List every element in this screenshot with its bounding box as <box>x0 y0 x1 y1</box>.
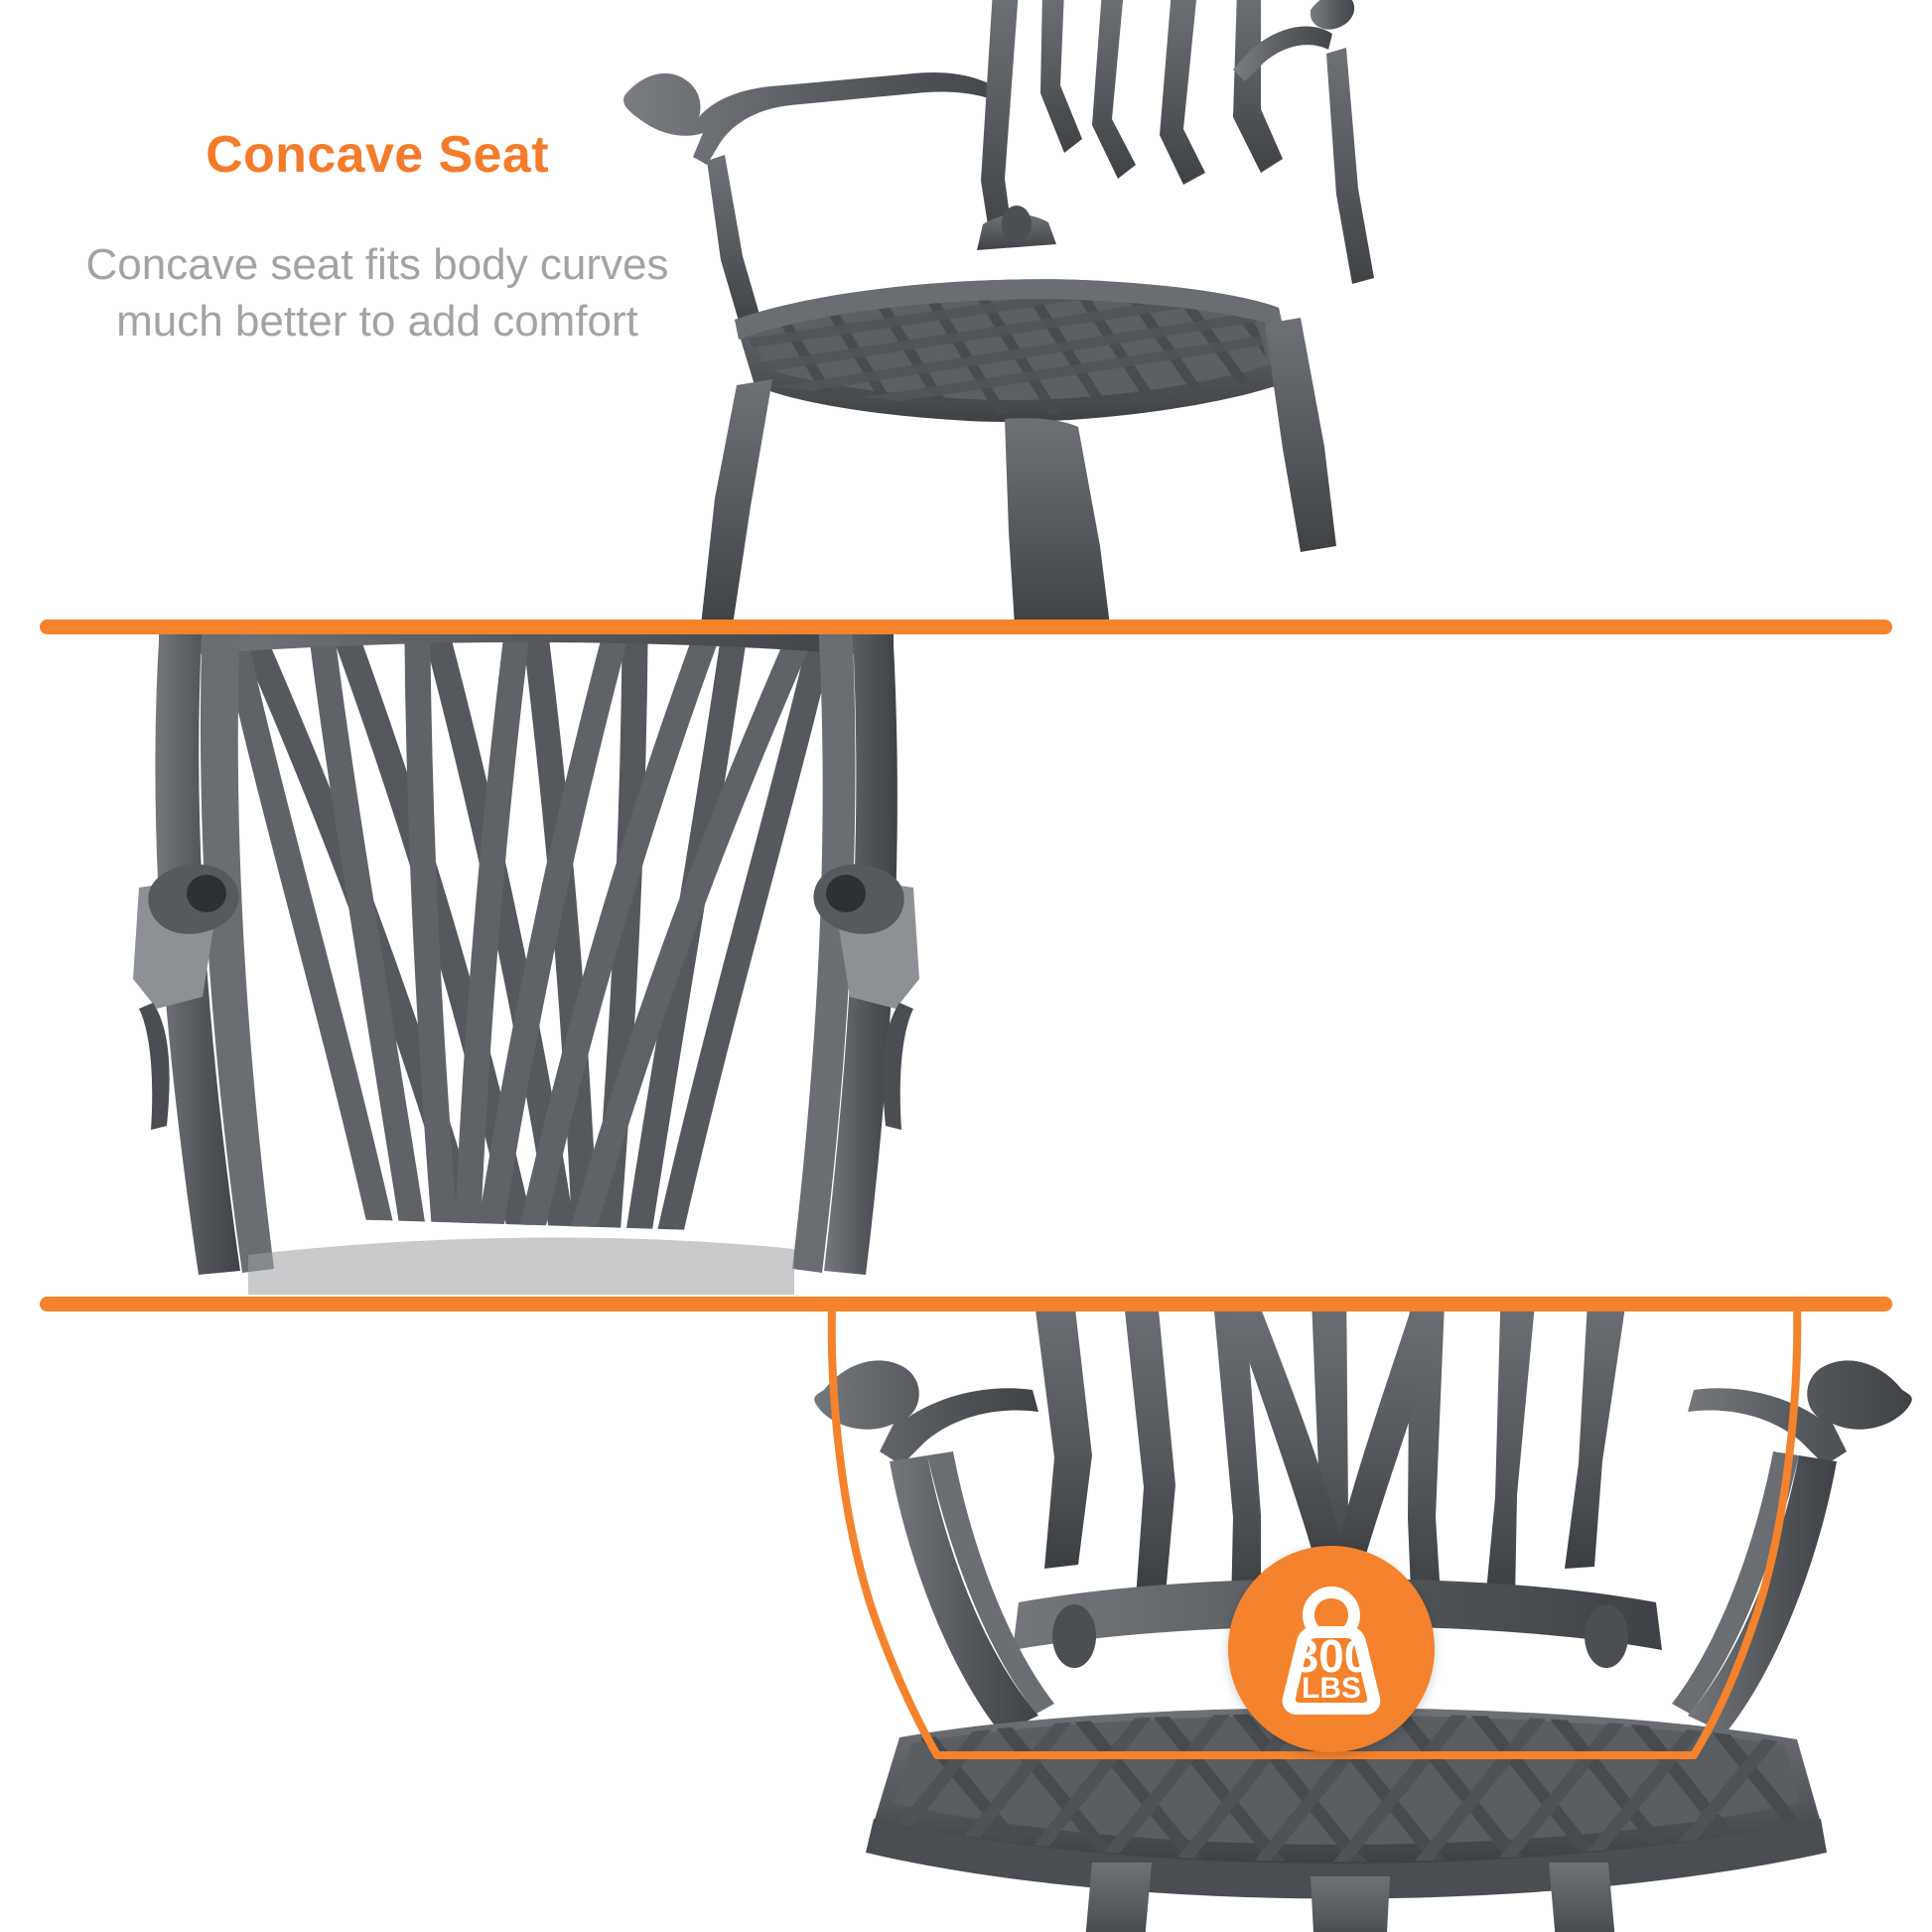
section-divider-2 <box>40 1297 1892 1311</box>
chair-seat-image <box>616 0 1509 620</box>
section-concave-seat: Concave Seat Concave seat fits body curv… <box>0 0 1932 620</box>
section-divider-1 <box>40 620 1892 634</box>
badge-unit: LBS <box>1302 1672 1361 1705</box>
section-heading-concave-seat: Concave Seat <box>60 127 695 184</box>
section-ergonomic-armrests: Ergonomic Armrests Streamlined armrests … <box>0 1297 1932 1932</box>
section-high-backrest: High Backrest Hollowed backrest provides… <box>0 620 1932 1297</box>
section-body-concave-seat: Concave seat fits body curves much bette… <box>60 237 695 349</box>
infographic-page: Concave Seat Concave seat fits body curv… <box>0 0 1932 1932</box>
chair-backrest-image <box>99 620 1092 1297</box>
weight-capacity-badge: 300 LBS <box>1228 1546 1435 1752</box>
weight-icon: 300 LBS <box>1257 1575 1406 1724</box>
text-block-concave-seat: Concave Seat Concave seat fits body curv… <box>60 127 695 349</box>
